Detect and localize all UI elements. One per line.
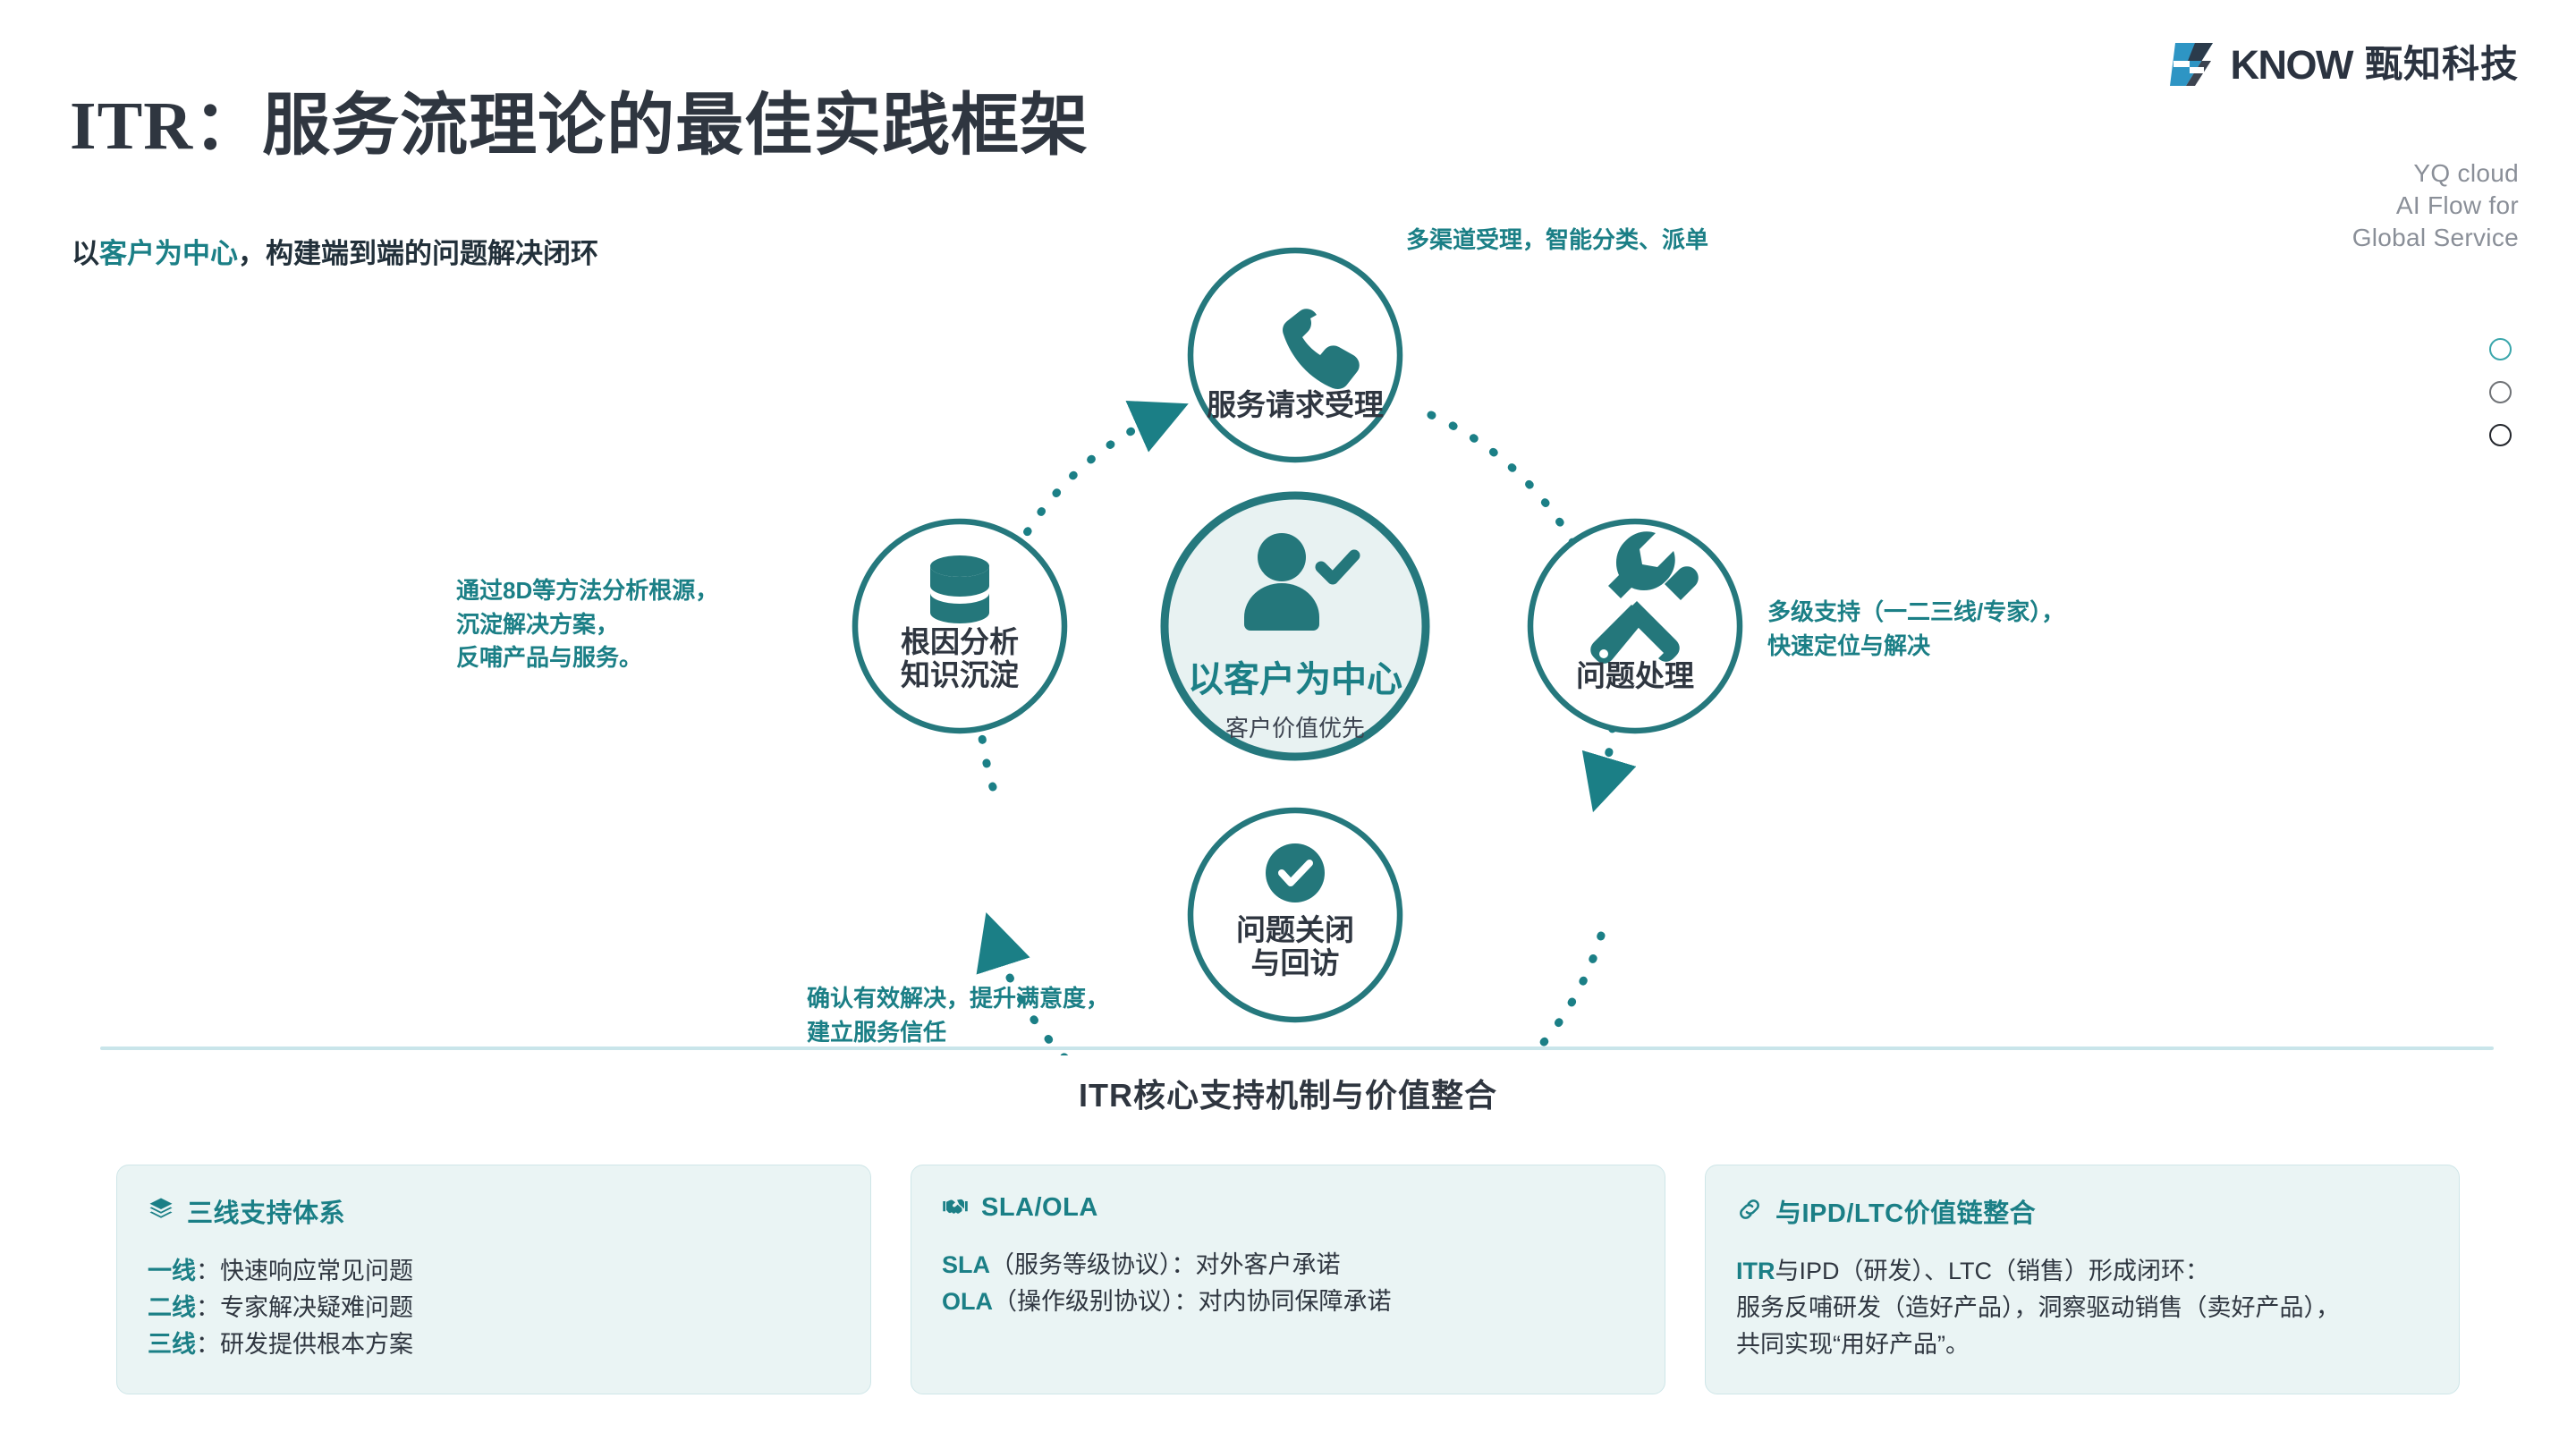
node-circle-close bbox=[1191, 810, 1400, 1020]
annotation-rootcause: 通过8D等方法分析根源， 沉淀解决方案， 反哺产品与服务。 bbox=[456, 574, 718, 675]
card-line-text: 共同实现“用好产品”。 bbox=[1736, 1331, 1970, 1358]
card-line-text: （服务等级协议）：对外客户承诺 bbox=[990, 1251, 1341, 1278]
annotation-intake-line1: 多渠道受理，智能分类、派单 bbox=[1406, 224, 1708, 258]
page-title: ITR：服务流理论的最佳实践框架 bbox=[70, 70, 1089, 168]
card-line-text: （操作级别协议）：对内协同保障承诺 bbox=[993, 1288, 1392, 1315]
brand-logo: KNOW 甄知科技 bbox=[2168, 41, 2520, 88]
check-circle-icon bbox=[1266, 843, 1325, 902]
handshake-icon bbox=[942, 1192, 969, 1224]
card-title: SLA/OLA bbox=[981, 1193, 1098, 1223]
card-line: SLA（服务等级协议）：对外客户承诺 bbox=[942, 1247, 1634, 1284]
card-line-key: 三线 bbox=[148, 1331, 196, 1358]
annotation-handle-line1: 多级支持（一二三线/专家）， bbox=[1767, 596, 2064, 630]
card-line: ITR与IPD（研发）、LTC（销售）形成闭环： bbox=[1736, 1253, 2428, 1290]
card-title: 与IPD/LTC价值链整合 bbox=[1775, 1192, 2036, 1230]
card-body: 一线：快速响应常见问题 二线：专家解决疑难问题 三线：研发提供根本方案 bbox=[148, 1253, 840, 1363]
brand-logo-cn: 甄知科技 bbox=[2365, 46, 2519, 83]
annotation-rootcause-line3: 反哺产品与服务。 bbox=[456, 641, 718, 675]
support-cards: 三线支持体系 一线：快速响应常见问题 二线：专家解决疑难问题 三线：研发提供根本… bbox=[116, 1165, 2460, 1394]
card-header: SLA/OLA bbox=[942, 1192, 1634, 1224]
tagline-line-2: AI Flow for bbox=[2352, 190, 2519, 222]
card-line-sep: ： bbox=[196, 1331, 220, 1358]
card-line: OLA（操作级别协议）：对内协同保障承诺 bbox=[942, 1284, 1634, 1320]
card-line-text: 专家解决疑难问题 bbox=[220, 1294, 413, 1321]
card-body: ITR与IPD（研发）、LTC（销售）形成闭环： 服务反哺研发（造好产品），洞察… bbox=[1736, 1253, 2428, 1363]
annotation-handle: 多级支持（一二三线/专家）， 快速定位与解决 bbox=[1767, 596, 2064, 663]
annotation-rootcause-line2: 沉淀解决方案， bbox=[456, 608, 718, 642]
card-three-tier-support[interactable]: 三线支持体系 一线：快速响应常见问题 二线：专家解决疑难问题 三线：研发提供根本… bbox=[116, 1165, 871, 1394]
card-header: 三线支持体系 bbox=[148, 1192, 840, 1230]
card-line: 共同实现“用好产品”。 bbox=[1736, 1326, 2428, 1363]
cycle-svg bbox=[0, 233, 2576, 1055]
card-line-key: 一线 bbox=[148, 1258, 196, 1284]
card-line: 服务反哺研发（造好产品），洞察驱动销售（卖好产品）， bbox=[1736, 1290, 2428, 1326]
card-title: 三线支持体系 bbox=[187, 1192, 345, 1230]
card-line-key: OLA bbox=[942, 1288, 993, 1315]
arc-handle-to-close bbox=[1433, 936, 1601, 1055]
card-line-text: 研发提供根本方案 bbox=[220, 1331, 413, 1358]
card-line: 二线：专家解决疑难问题 bbox=[148, 1290, 840, 1326]
annotation-close-line2: 建立服务信任 bbox=[807, 1016, 1109, 1050]
card-sla-ola[interactable]: SLA/OLA SLA（服务等级协议）：对外客户承诺 OLA（操作级别协议）：对… bbox=[911, 1165, 1665, 1394]
card-line: 一线：快速响应常见问题 bbox=[148, 1253, 840, 1290]
z-mark-icon bbox=[2168, 41, 2218, 88]
annotation-intake: 多渠道受理，智能分类、派单 bbox=[1406, 224, 1708, 258]
link-icon bbox=[1736, 1196, 1763, 1227]
card-line-key: SLA bbox=[942, 1251, 990, 1278]
card-line-key: 二线 bbox=[148, 1294, 196, 1321]
annotation-rootcause-line1: 通过8D等方法分析根源， bbox=[456, 574, 718, 608]
section-divider bbox=[100, 1046, 2494, 1050]
tagline-line-1: YQ cloud bbox=[2352, 157, 2519, 190]
card-line-key: ITR bbox=[1736, 1258, 1775, 1284]
card-line-sep: ： bbox=[196, 1294, 220, 1321]
database-icon bbox=[930, 555, 989, 623]
annotation-close-line1: 确认有效解决，提升满意度， bbox=[807, 982, 1109, 1016]
card-ipd-ltc-integration[interactable]: 与IPD/LTC价值链整合 ITR与IPD（研发）、LTC（销售）形成闭环： 服… bbox=[1705, 1165, 2460, 1394]
brand-logo-word: KNOW bbox=[2231, 45, 2352, 85]
card-line-text: 服务反哺研发（造好产品），洞察驱动销售（卖好产品）， bbox=[1736, 1294, 2340, 1321]
card-header: 与IPD/LTC价值链整合 bbox=[1736, 1192, 2428, 1230]
card-line: 三线：研发提供根本方案 bbox=[148, 1326, 840, 1363]
card-line-sep: ： bbox=[196, 1258, 220, 1284]
node-circle-rootcause bbox=[855, 521, 1064, 731]
annotation-handle-line2: 快速定位与解决 bbox=[1767, 630, 2064, 664]
card-body: SLA（服务等级协议）：对外客户承诺 OLA（操作级别协议）：对内协同保障承诺 bbox=[942, 1247, 1634, 1320]
card-line-text: 快速响应常见问题 bbox=[220, 1258, 413, 1284]
card-line-text: 与IPD（研发）、LTC（销售）形成闭环： bbox=[1775, 1258, 2210, 1284]
layers-icon bbox=[148, 1196, 174, 1227]
annotation-close: 确认有效解决，提升满意度， 建立服务信任 bbox=[807, 982, 1109, 1049]
itr-cycle-diagram: 服务请求受理 问题处理 问题关闭 与回访 根因分析 知识沉淀 以客户为中心 客户… bbox=[0, 233, 2576, 1055]
section-title: ITR核心支持机制与价值整合 bbox=[0, 1070, 2576, 1116]
